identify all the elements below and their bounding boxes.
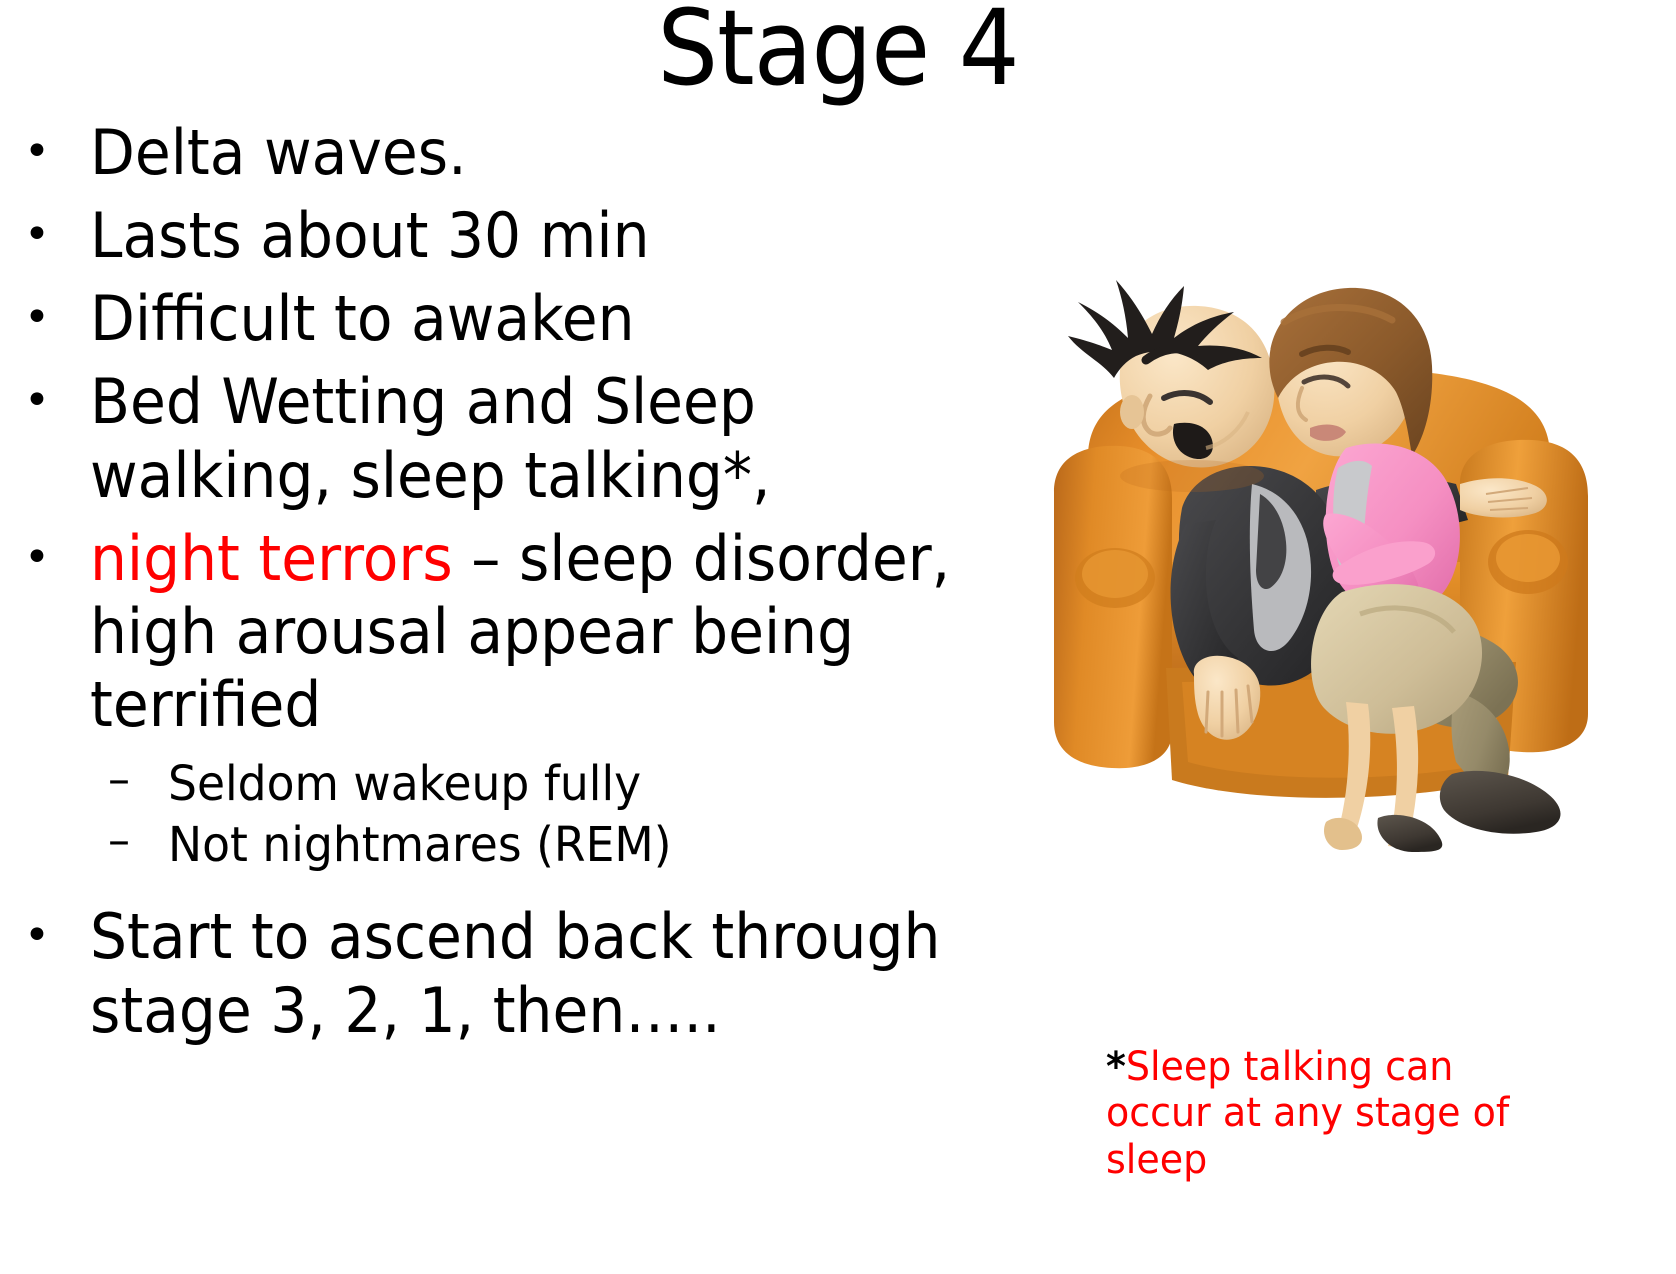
woman-shoe-right [1377,815,1442,852]
page-title: Stage 4 [67,0,1609,100]
list-item-text: Delta waves. [90,116,996,189]
bullet-list: • Delta waves. • Lasts about 30 min • Di… [8,116,1054,1055]
sub-list-item: – Seldom wakeup fully [8,755,1054,814]
dash-marker-icon: – [8,816,168,865]
couple-sleeping-on-couch-image [1016,262,1616,852]
list-item: • Delta waves. [8,116,1054,189]
asterisk-marker: * [1106,1044,1126,1090]
list-item-text: Bed Wetting and Sleep walking, sleep tal… [90,365,996,511]
sub-list-item-text: Not nightmares (REM) [168,816,1010,875]
list-item: • Lasts about 30 min [8,199,1054,272]
bullet-marker-icon: • [8,900,90,971]
couch-arm-left-dimple-hi [1082,550,1148,598]
bullet-marker-icon: • [8,282,90,353]
list-item-text: night terrors – sleep disorder, high aro… [90,522,996,741]
contact-shadow [1120,460,1264,492]
footnote-sleep-talking: *Sleep talking can occur at any stage of… [1106,1044,1553,1183]
footnote-text: Sleep talking can occur at any stage of … [1106,1044,1509,1183]
man-shoe [1440,771,1561,834]
list-item-text: Start to ascend back through stage 3, 2,… [90,900,996,1046]
couch-arm-right-dimple-hi [1496,534,1560,582]
list-item-text: Difficult to awaken [90,282,996,355]
list-item-text: Lasts about 30 min [90,199,996,272]
list-item: • Difficult to awaken [8,282,1054,355]
bullet-marker-icon: • [8,365,90,436]
list-item: • Start to ascend back through stage 3, … [8,900,1054,1046]
sub-list-item-text: Seldom wakeup fully [168,755,1010,814]
bullet-marker-icon: • [8,522,90,593]
dash-marker-icon: – [8,755,168,804]
man-ear [1120,395,1144,429]
slide-canvas: Stage 4 • Delta waves. • Lasts about 30 … [0,0,1676,1274]
highlighted-term: night terrors [90,522,453,595]
bullet-marker-icon: • [8,116,90,187]
list-item-night-terrors: • night terrors – sleep disorder, high a… [8,522,1054,741]
list-item: • Bed Wetting and Sleep walking, sleep t… [8,365,1054,511]
bullet-marker-icon: • [8,199,90,270]
sub-list-item: – Not nightmares (REM) [8,816,1054,875]
